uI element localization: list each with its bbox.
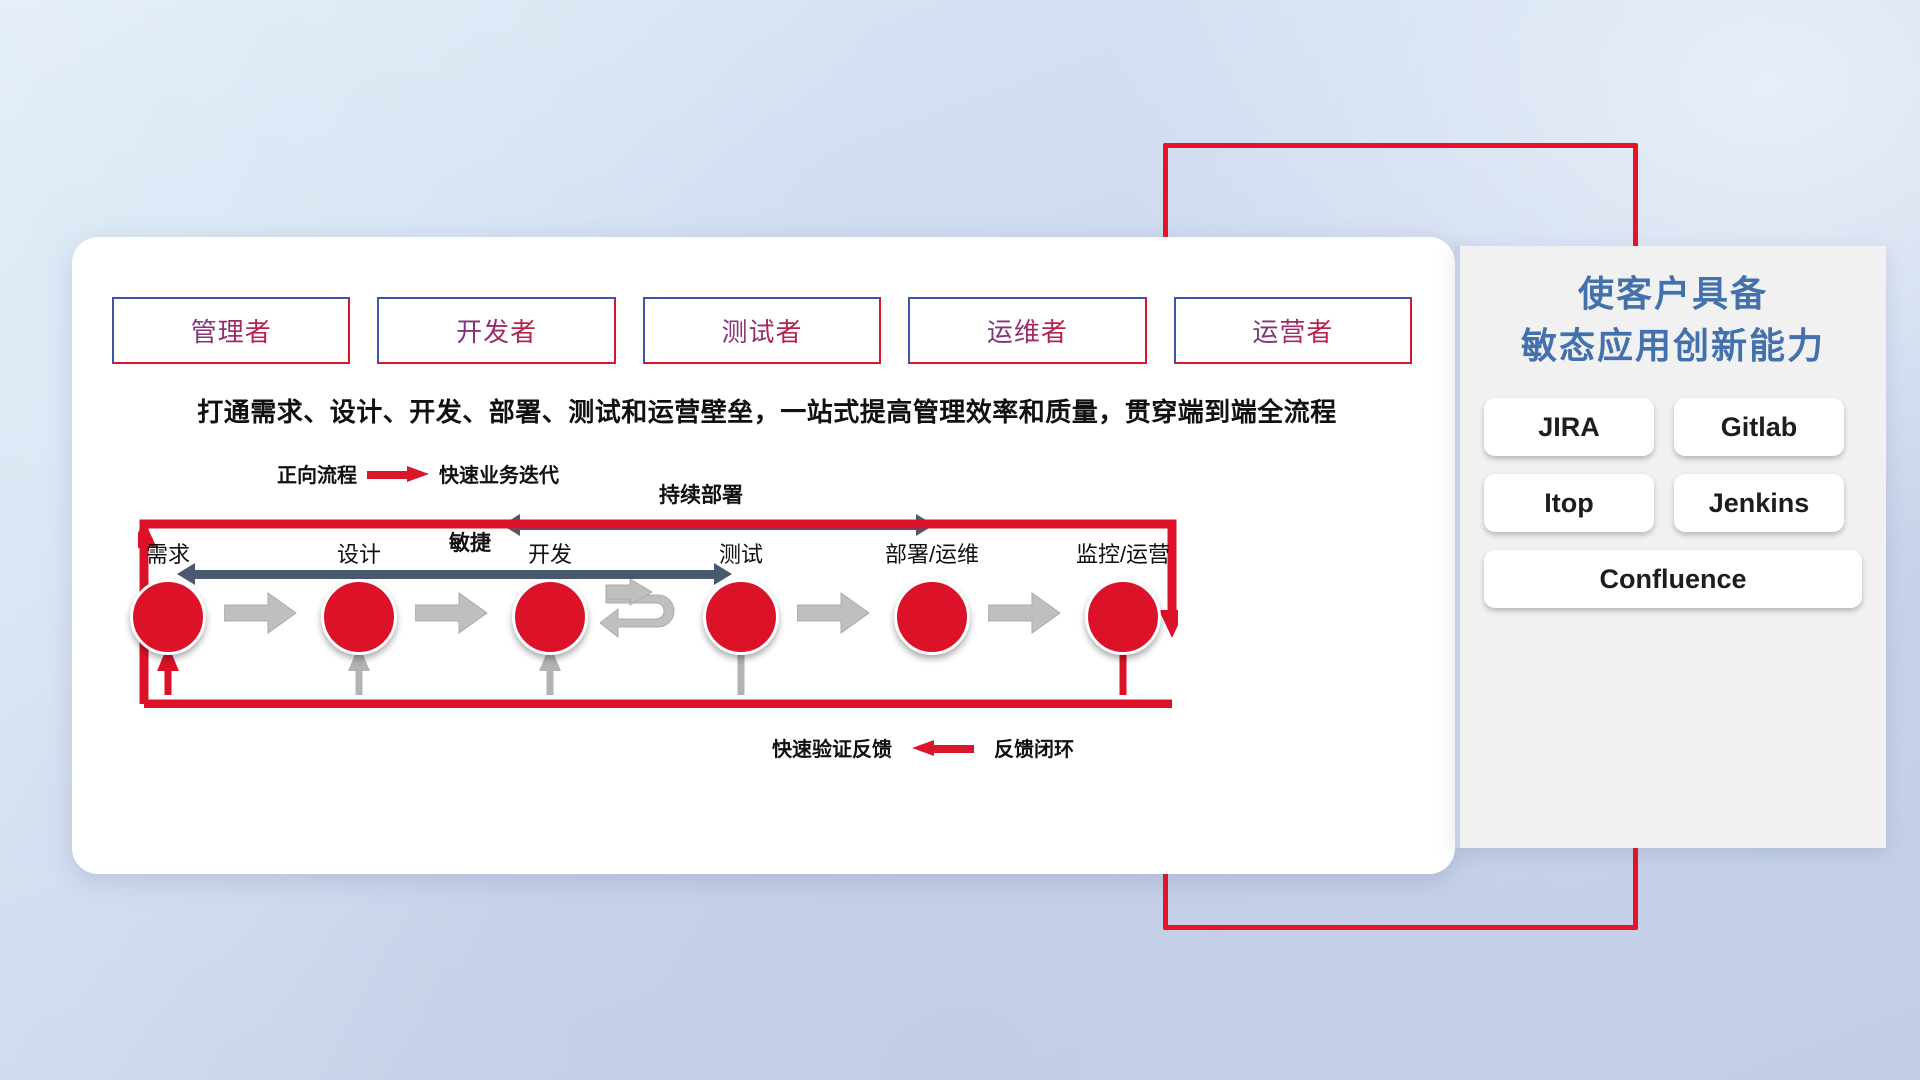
flow-arrow-icon-2	[797, 591, 871, 635]
process-node-2[interactable]	[512, 579, 588, 655]
flow-arrow-icon-0	[224, 591, 298, 635]
description-text: 打通需求、设计、开发、部署、测试和运营壁垒，一站式提高管理效率和质量，贯穿端到端…	[112, 392, 1422, 429]
tool-chip-itop[interactable]: Itop	[1484, 474, 1654, 532]
panel-title-line-1: 使客户具备	[1460, 268, 1886, 320]
tool-chip-jenkins[interactable]: Jenkins	[1674, 474, 1844, 532]
role-box-0[interactable]: 管理者	[112, 297, 350, 364]
role-box-row: 管理者 开发者 测试者 运维者 运营者	[112, 297, 1412, 364]
panel-title-line-2: 敏态应用创新能力	[1460, 320, 1886, 372]
main-content-card: 管理者 开发者 测试者 运维者 运营者 打通需求、设计、开发、部署、测试和运营壁…	[72, 237, 1455, 874]
process-node-label-3: 测试	[719, 537, 763, 569]
continuous-deploy-label: 持续部署	[659, 479, 743, 509]
role-box-4[interactable]: 运营者	[1174, 297, 1412, 364]
role-box-3[interactable]: 运维者	[908, 297, 1146, 364]
process-node-5[interactable]	[1085, 579, 1161, 655]
tool-chip-gitlab[interactable]: Gitlab	[1674, 398, 1844, 456]
arrow-right-icon	[367, 467, 429, 481]
process-node-0[interactable]	[130, 579, 206, 655]
panel-title: 使客户具备 敏态应用创新能力	[1460, 246, 1886, 372]
forward-flow-legend: 正向流程 快速业务迭代	[277, 459, 559, 488]
arrow-left-icon	[912, 741, 974, 755]
process-flow-row: 需求 设计 开发 测试 部署/运维 监控/运营	[72, 567, 1455, 687]
process-node-label-2: 开发	[528, 537, 572, 569]
forward-flow-label-right: 快速业务迭代	[439, 459, 559, 488]
tool-chip-confluence[interactable]: Confluence	[1484, 550, 1862, 608]
role-box-1[interactable]: 开发者	[377, 297, 615, 364]
process-node-4[interactable]	[894, 579, 970, 655]
tool-chip-list: JIRA Gitlab Itop Jenkins Confluence	[1460, 372, 1886, 608]
process-node-label-4: 部署/运维	[885, 537, 979, 569]
loop-back-arrow-icon	[600, 579, 694, 651]
feedback-label-left: 快速验证反馈	[772, 733, 892, 762]
process-node-label-1: 设计	[337, 537, 381, 569]
flow-arrow-icon-1	[415, 591, 489, 635]
capability-panel: 使客户具备 敏态应用创新能力 JIRA Gitlab Itop Jenkins …	[1455, 246, 1886, 848]
flow-arrow-icon-3	[988, 591, 1062, 635]
process-node-1[interactable]	[321, 579, 397, 655]
feedback-loop-legend: 快速验证反馈 反馈闭环	[772, 733, 1074, 762]
forward-flow-label-left: 正向流程	[277, 459, 357, 488]
feedback-label-right: 反馈闭环	[994, 733, 1074, 762]
role-box-2[interactable]: 测试者	[643, 297, 881, 364]
process-node-3[interactable]	[703, 579, 779, 655]
process-node-label-0: 需求	[146, 537, 190, 569]
tool-chip-jira[interactable]: JIRA	[1484, 398, 1654, 456]
process-node-label-5: 监控/运营	[1076, 537, 1170, 569]
